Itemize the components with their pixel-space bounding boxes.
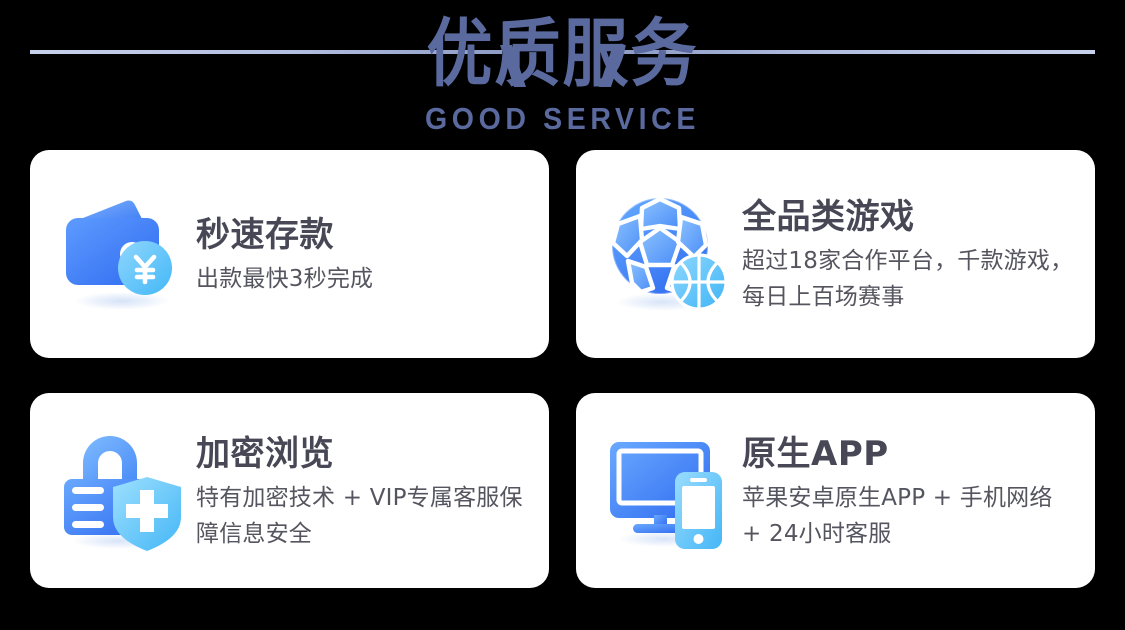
- section-header: 优质服务 GOOD SERVICE: [0, 0, 1125, 146]
- monitor-phone-icon: [602, 425, 734, 557]
- feature-card-title: 加密浏览: [196, 432, 529, 476]
- feature-card-desc: 出款最快3秒完成: [196, 261, 529, 297]
- feature-card-desc: 超过18家合作平台，千款游戏，每日上百场赛事: [742, 243, 1075, 315]
- feature-card-title: 全品类游戏: [742, 195, 1075, 239]
- feature-card-title: 原生APP: [742, 432, 1075, 476]
- feature-card-text: 秒速存款 出款最快3秒完成: [196, 211, 529, 297]
- feature-card-deposit[interactable]: 秒速存款 出款最快3秒完成: [30, 150, 549, 358]
- page-title: 优质服务: [0, 14, 1125, 95]
- feature-card-text: 加密浏览 特有加密技术 + VIP专属客服保障信息安全: [196, 430, 529, 552]
- feature-card-text: 全品类游戏 超过18家合作平台，千款游戏，每日上百场赛事: [742, 193, 1075, 315]
- feature-card-encryption[interactable]: 加密浏览 特有加密技术 + VIP专属客服保障信息安全: [30, 393, 549, 588]
- lock-shield-icon: [56, 425, 188, 557]
- good-service-panel: 优质服务 GOOD SERVICE: [0, 0, 1125, 630]
- feature-card-games[interactable]: 全品类游戏 超过18家合作平台，千款游戏，每日上百场赛事: [576, 150, 1095, 358]
- feature-card-native-app[interactable]: 原生APP 苹果安卓原生APP + 手机网络 + 24小时客服: [576, 393, 1095, 588]
- soccer-basketball-icon: [602, 188, 734, 320]
- page-subtitle: GOOD SERVICE: [45, 102, 1080, 136]
- feature-card-title: 秒速存款: [196, 213, 529, 257]
- feature-card-desc: 特有加密技术 + VIP专属客服保障信息安全: [196, 480, 529, 552]
- feature-card-grid: 秒速存款 出款最快3秒完成: [30, 150, 1095, 590]
- wallet-yen-icon: [56, 188, 188, 320]
- feature-card-desc: 苹果安卓原生APP + 手机网络 + 24小时客服: [742, 480, 1075, 552]
- feature-card-text: 原生APP 苹果安卓原生APP + 手机网络 + 24小时客服: [742, 430, 1075, 552]
